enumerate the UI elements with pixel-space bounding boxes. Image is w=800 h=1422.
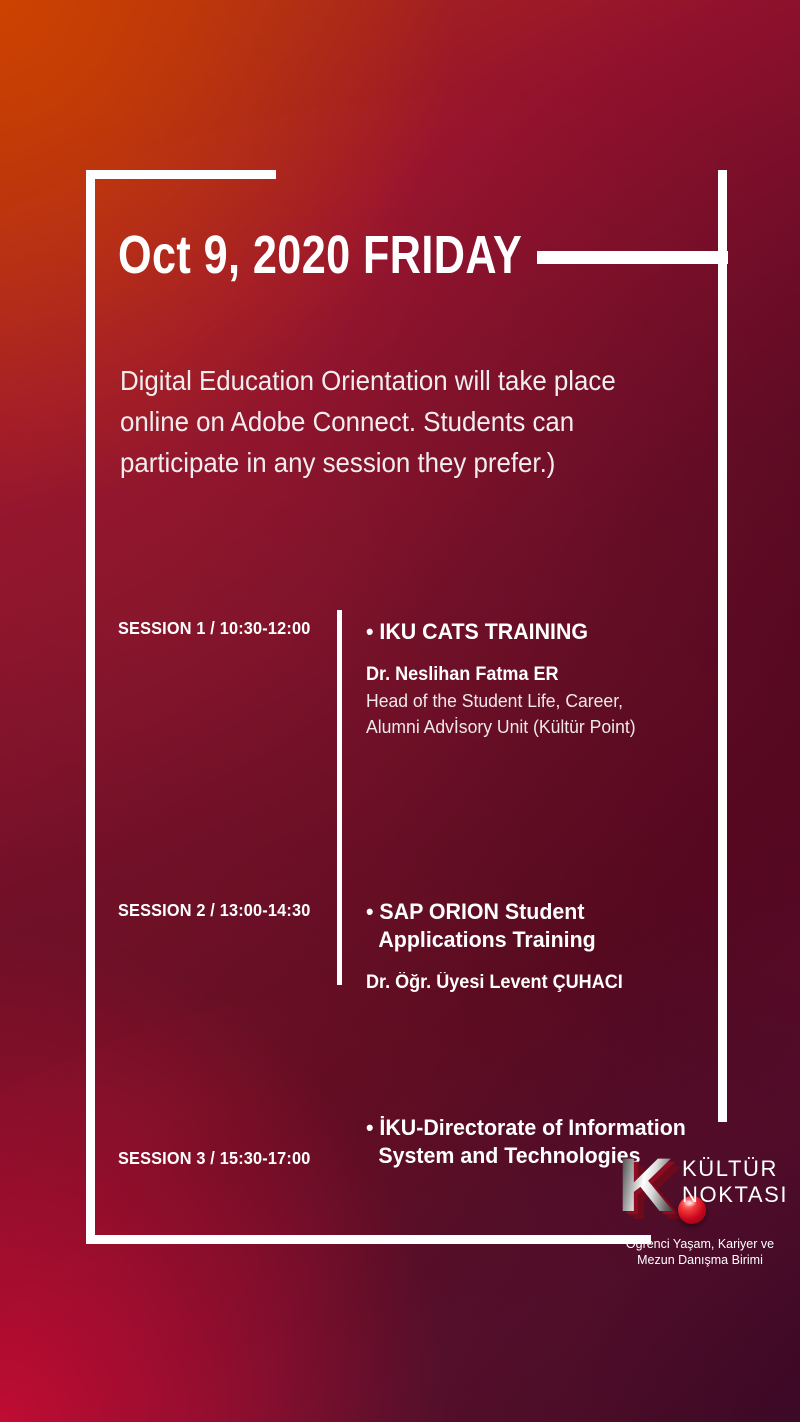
logo-k-icon: K bbox=[617, 1148, 673, 1224]
session-affiliation-line-2: Alumni Advİsory Unit (Kültür Point) bbox=[366, 714, 700, 740]
logo-name-line-1: KÜLTÜR bbox=[682, 1156, 788, 1182]
frame-top-edge bbox=[86, 170, 276, 179]
event-poster: Oct 9, 2020 FRIDAY Digital Education Ori… bbox=[0, 0, 800, 1422]
kultur-noktasi-logo: K KÜLTÜR NOKTASI Öğrenci Yaşam, Kariyer … bbox=[612, 1146, 792, 1268]
session-item: SESSION 2 / 13:00-14:30 • SAP ORION Stud… bbox=[118, 898, 718, 996]
logo-wordmark: KÜLTÜR NOKTASI bbox=[682, 1156, 788, 1208]
session-details: • IKU CATS TRAINING Dr. Neslihan Fatma E… bbox=[337, 618, 718, 740]
session-affiliation-line-1: Head of the Student Life, Career, bbox=[366, 688, 700, 714]
intro-paragraph: Digital Education Orientation will take … bbox=[120, 360, 656, 483]
logo-tagline-line-1: Öğrenci Yaşam, Kariyer ve bbox=[612, 1236, 788, 1252]
frame-left-edge bbox=[86, 170, 95, 1244]
session-title: • SAP ORION Student Applications Trainin… bbox=[366, 898, 700, 954]
session-details: • SAP ORION Student Applications Trainin… bbox=[337, 898, 718, 996]
headline-rule bbox=[537, 251, 728, 264]
session-time-label: SESSION 1 / 10:30-12:00 bbox=[118, 618, 322, 740]
logo-name-line-2: NOKTASI bbox=[682, 1182, 788, 1208]
logo-tagline: Öğrenci Yaşam, Kariyer ve Mezun Danışma … bbox=[612, 1236, 788, 1268]
session-title: • IKU CATS TRAINING bbox=[366, 618, 700, 646]
frame-bottom-edge bbox=[86, 1235, 651, 1244]
logo-mark: K KÜLTÜR NOKTASI bbox=[612, 1146, 792, 1230]
frame-right-edge bbox=[718, 170, 727, 1122]
session-time-label: SESSION 2 / 13:00-14:30 bbox=[118, 898, 322, 996]
session-list: SESSION 1 / 10:30-12:00 • IKU CATS TRAIN… bbox=[118, 600, 718, 876]
session-speaker: Dr. Öğr. Üyesi Levent ÇUHACI bbox=[366, 970, 700, 996]
headline-row: Oct 9, 2020 FRIDAY bbox=[118, 228, 728, 282]
logo-tagline-line-2: Mezun Danışma Birimi bbox=[612, 1252, 788, 1268]
page-title: Oct 9, 2020 FRIDAY bbox=[118, 228, 522, 282]
session-time-label: SESSION 3 / 15:30-17:00 bbox=[118, 1114, 322, 1170]
session-item: SESSION 1 / 10:30-12:00 • IKU CATS TRAIN… bbox=[118, 618, 718, 740]
session-speaker: Dr. Neslihan Fatma ER bbox=[366, 662, 700, 688]
